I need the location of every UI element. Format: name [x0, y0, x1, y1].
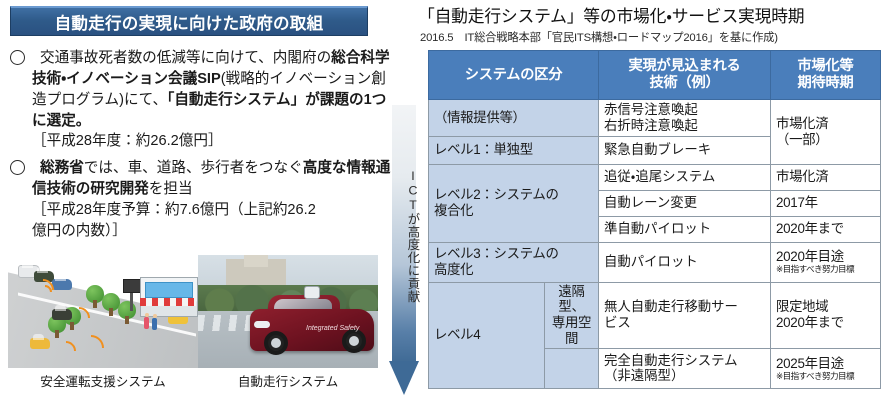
cell-timing: 2020年まで: [771, 216, 881, 242]
cell-timing: 2017年: [771, 190, 881, 216]
bullet-body: 交通事故死者数の低減等に向けて、内閣府の総合科学技術・イノベーション会議SIP(…: [32, 48, 396, 152]
timing-line: 限定地域: [776, 299, 875, 315]
cell-technology: 準自動パイロット: [599, 216, 771, 242]
subcategory-line: 専用空間: [547, 315, 596, 347]
timing-footnote: ※目指すべき努力目標: [776, 265, 875, 274]
tech-line: （非遠隔型）: [604, 368, 765, 384]
timing-line: （一部）: [776, 132, 875, 148]
header-line: 市場化等: [776, 58, 875, 75]
column-header-system-category: システムの区分: [429, 51, 599, 100]
page-title: 自動走行の実現に向けた政府の取組: [55, 10, 324, 34]
headlight: [254, 321, 270, 328]
cell-timing: 市場化済 （一部）: [771, 100, 881, 165]
car-wheel: [342, 329, 366, 353]
bullet-item-mic: 総務省では、車、道路、歩行者をつなぐ高度な情報通信技術の研究開発を担当 ［平成2…: [4, 158, 396, 241]
cell-category: （情報提供等）: [429, 100, 599, 137]
bullet2-budget-note-line2: 億円の内数）］: [32, 221, 396, 242]
timing-line: 2020年目途: [776, 249, 875, 265]
bullet1-line2-plain-b: (戦: [221, 71, 240, 87]
figure-row: 安全運転支援システム Integrated Safety 自動走行システム: [0, 255, 400, 395]
bullet2-budget-note-line1: ［平成28年度予算：約7.6億円（上記約26.2: [32, 200, 396, 221]
bullet1-line1: 交通事故死者数の低減等に向けて、内閣府: [32, 50, 317, 66]
category-line: 複合化: [434, 203, 593, 219]
tech-line: 完全自動走行システム: [604, 353, 765, 369]
table-row: レベル3：システムの 高度化 自動パイロット 2020年目途 ※目指すべき努力目…: [429, 242, 881, 282]
timing-line: 2020年まで: [776, 315, 875, 331]
figure-caption-autonomous: 自動走行システム: [198, 371, 378, 390]
column-header-expected-technology: 実現が見込まれる 技術（例）: [599, 51, 771, 100]
autonomous-vehicle-photo: Integrated Safety: [198, 255, 378, 368]
car-decal-text: Integrated Safety: [306, 325, 359, 332]
bullet2-ministry-bold: 総務省: [32, 160, 84, 176]
column-header-expected-timing: 市場化等 期待時期: [771, 51, 881, 100]
timing-footnote: ※目指すべき努力目標: [776, 372, 875, 381]
table-row: （情報提供等） 赤信号注意喚起 右折時注意喚起 市場化済 （一部）: [429, 100, 881, 137]
roadmap-table: システムの区分 実現が見込まれる 技術（例） 市場化等 期待時期 （情報提供等）…: [428, 50, 881, 389]
storefront-icon: [140, 277, 198, 317]
lidar-sensor-icon: [304, 286, 320, 299]
circle-outline-icon: [10, 50, 25, 65]
header-line: 技術（例）: [604, 75, 765, 92]
bullet1-line2-plain-a: の: [317, 50, 332, 66]
section-title-bar: 自動走行の実現に向けた政府の取組: [10, 6, 368, 36]
table-row: レベル2：システムの 複合化 追従・追尾システム 市場化済: [429, 164, 881, 190]
table-header-row: システムの区分 実現が見込まれる 技術（例） 市場化等 期待時期: [429, 51, 881, 100]
cell-subcategory: 遠隔型、 専用空間: [545, 282, 599, 348]
circle-outline-icon: [10, 160, 25, 175]
bullet2-line1-plain: では、車、道路、歩行者をつなぐ: [84, 160, 303, 176]
cell-timing: 2020年目途 ※目指すべき努力目標: [771, 242, 881, 282]
cell-timing: 市場化済: [771, 164, 881, 190]
tech-line: 無人自動走行移動サー: [604, 299, 765, 315]
car-icon: [52, 279, 72, 290]
cell-category: レベル4: [429, 282, 545, 388]
figure-safe-driving-support: 安全運転支援システム: [8, 255, 198, 390]
figure-caption-safe-driving: 安全運転支援システム: [8, 371, 198, 390]
cell-category: レベル1：単独型: [429, 136, 599, 164]
table-row: レベル4 遠隔型、 専用空間 無人自動走行移動サー ビス 限定地域 2020年ま…: [429, 282, 881, 348]
taxi-icon: [30, 338, 50, 349]
bullet2-line1-bold-b: 高度: [303, 160, 332, 176]
cell-technology: 緊急自動ブレーキ: [599, 136, 771, 164]
timing-line: 市場化済: [776, 116, 875, 132]
header-line: 期待時期: [776, 75, 875, 92]
car-wheel: [264, 331, 288, 355]
cell-technology: 自動レーン変更: [599, 190, 771, 216]
category-line: 高度化: [434, 262, 593, 278]
cell-technology: 完全自動走行システム （非遠隔型）: [599, 348, 771, 388]
cell-timing: 2025年目途 ※目指すべき努力目標: [771, 348, 881, 388]
roadmap-panel: 「自動走行システム」等の市場化・サービス実現時期 2016.5 IT総合戦略本部…: [415, 0, 881, 401]
figure-autonomous-vehicle: Integrated Safety 自動走行システム: [198, 255, 378, 390]
category-line: レベル2：システムの: [434, 187, 593, 203]
pedestrian-icon: [144, 317, 149, 329]
subcategory-line: 遠隔型、: [547, 284, 596, 316]
bullet-body: 総務省では、車、道路、歩行者をつなぐ高度な情報通信技術の研究開発を担当 ［平成2…: [32, 158, 396, 241]
cell-technology: 無人自動走行移動サー ビス: [599, 282, 771, 348]
cell-subcategory-empty: [545, 348, 599, 388]
tech-line: ビス: [604, 315, 765, 331]
government-initiatives-panel: 自動走行の実現に向けた政府の取組 交通事故死者数の低減等に向けて、内閣府の総合科…: [0, 0, 400, 401]
bullet2-line2-plain: を担当: [149, 181, 193, 197]
cell-category: レベル2：システムの 複合化: [429, 164, 599, 242]
pedestrian-icon: [152, 318, 157, 330]
roadside-unit-icon: [130, 289, 133, 311]
cell-timing: 限定地域 2020年まで: [771, 282, 881, 348]
category-line: レベル3：システムの: [434, 246, 593, 262]
header-line: 実現が見込まれる: [604, 58, 765, 75]
cell-technology: 赤信号注意喚起 右折時注意喚起: [599, 100, 771, 137]
roadmap-subtitle: 2016.5 IT総合戦略本部「官民ITS構想・ロードマップ2016」を基に作成…: [420, 29, 778, 45]
tech-line: 赤信号注意喚起: [604, 102, 765, 118]
bullet1-budget-note: ［平成28年度：約26.2億円］: [32, 131, 396, 152]
cell-technology: 自動パイロット: [599, 242, 771, 282]
roadmap-title: 「自動走行システム」等の市場化・サービス実現時期: [418, 3, 804, 27]
timing-line: 2025年目途: [776, 356, 875, 372]
bullet-item-sip: 交通事故死者数の低減等に向けて、内閣府の総合科学技術・イノベーション会議SIP(…: [4, 48, 396, 152]
safe-driving-support-illustration: [8, 255, 198, 368]
cell-technology: 追従・追尾システム: [599, 164, 771, 190]
cell-category: レベル3：システムの 高度化: [429, 242, 599, 282]
tech-line: 右折時注意喚起: [604, 118, 765, 134]
